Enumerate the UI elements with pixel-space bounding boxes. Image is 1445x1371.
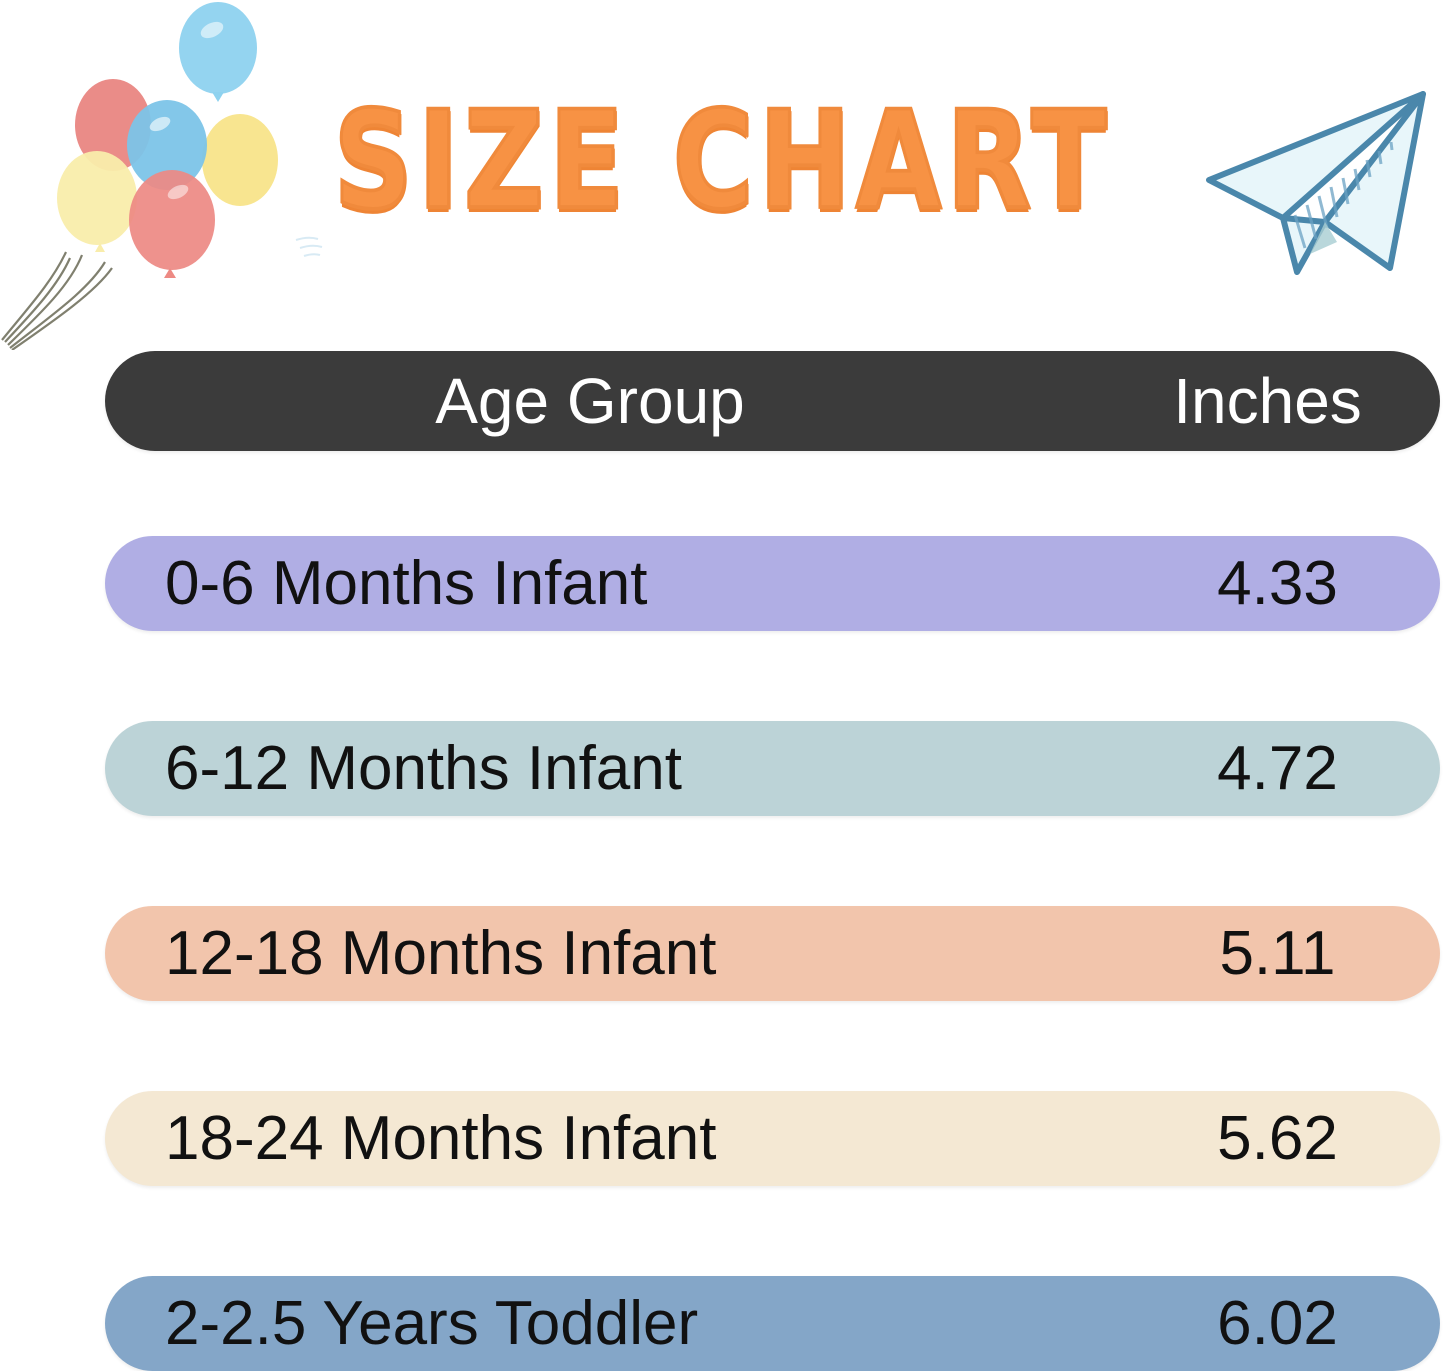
cell-age-group: 18-24 Months Infant [105,1103,1175,1174]
size-chart-table: Age Group Inches 0-6 Months Infant 4.33 … [105,351,1440,1371]
cell-inches: 5.11 [1115,918,1440,989]
cell-inches: 4.33 [1115,548,1440,619]
cell-inches: 6.02 [1115,1288,1440,1359]
table-row: 6-12 Months Infant 4.72 [105,721,1440,816]
cell-age-group: 2-2.5 Years Toddler [105,1288,1175,1359]
cell-inches: 4.72 [1115,733,1440,804]
cell-age-group: 0-6 Months Infant [105,548,1175,619]
balloons-icon [0,0,330,350]
page-title-text: SIZE CHART [333,95,1111,230]
table-row: 0-6 Months Infant 4.33 [105,536,1440,631]
cell-age-group: 6-12 Months Infant [105,733,1175,804]
table-header-row: Age Group Inches [105,351,1440,451]
page-title: SIZE CHART [0,108,1445,216]
table-row: 12-18 Months Infant 5.11 [105,906,1440,1001]
column-header-age-group: Age Group [200,364,980,438]
column-header-inches: Inches [1095,364,1440,438]
cell-inches: 5.62 [1115,1103,1440,1174]
table-row: 18-24 Months Infant 5.62 [105,1091,1440,1186]
cell-age-group: 12-18 Months Infant [105,918,1175,989]
table-row: 2-2.5 Years Toddler 6.02 [105,1276,1440,1371]
paper-airplane-icon [1185,72,1443,294]
